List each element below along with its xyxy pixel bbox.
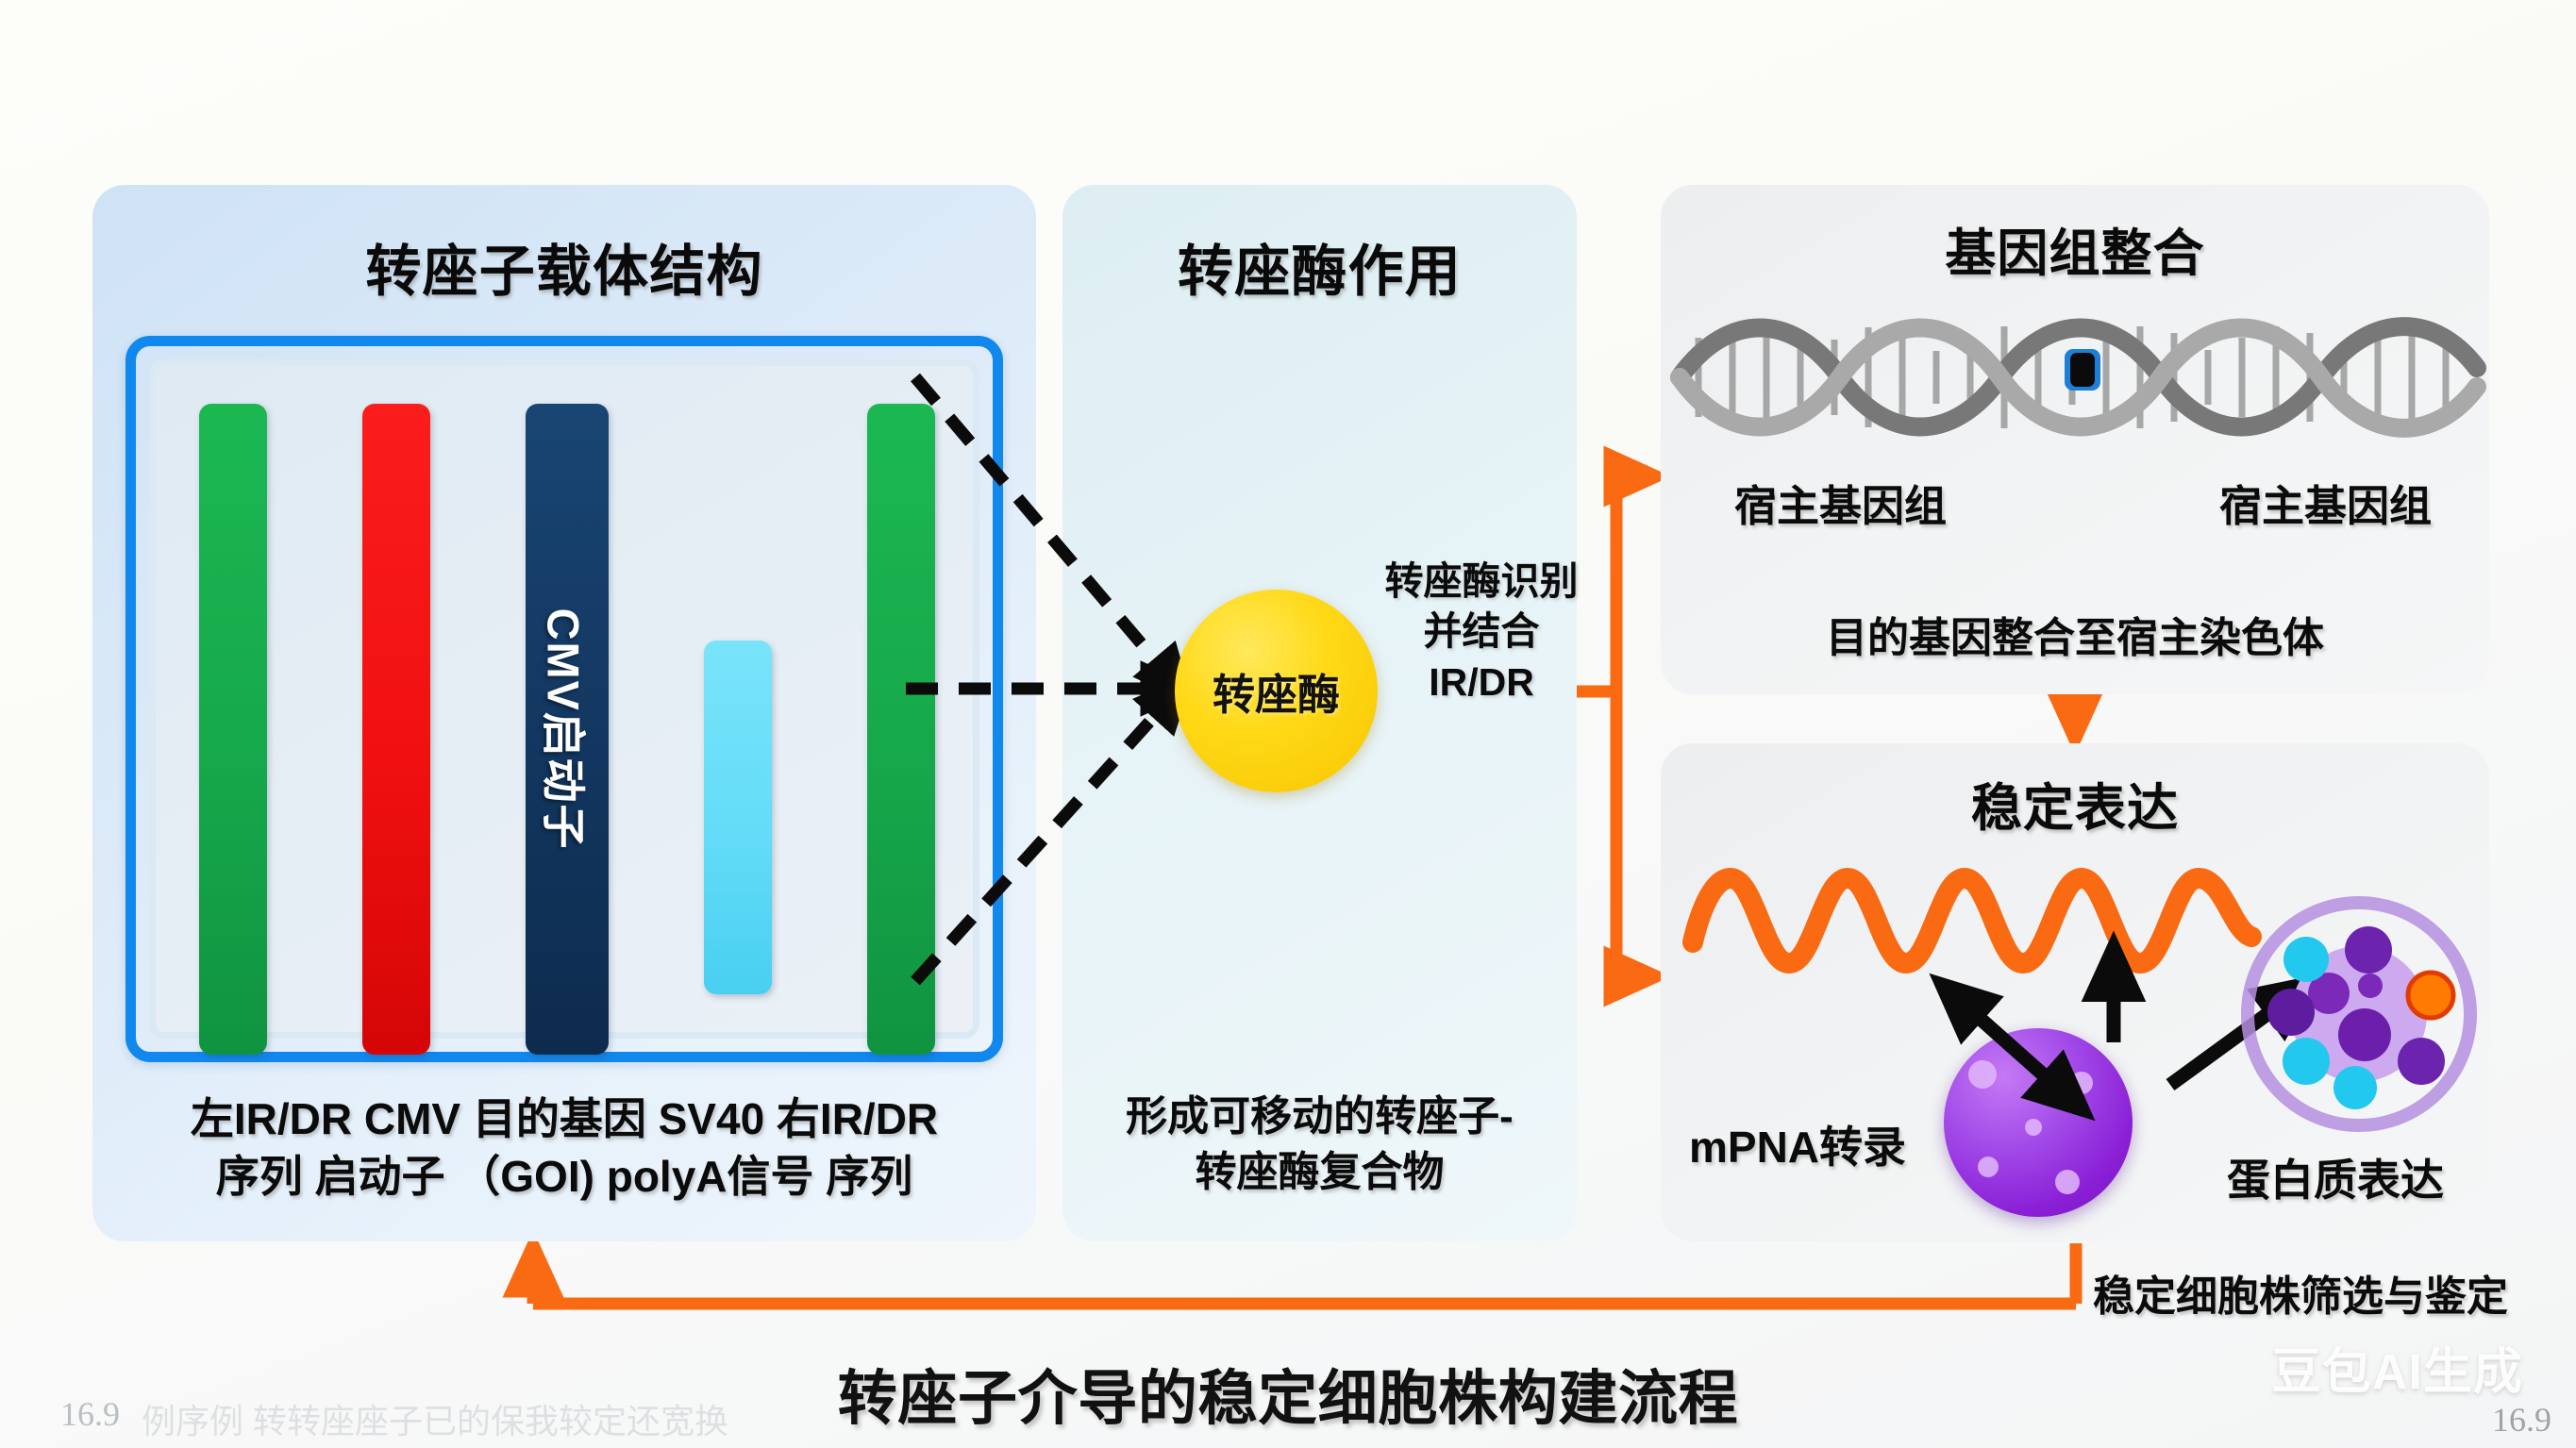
watermark-faint-text: 例序例 转转座座子已的保我较定还宽换 <box>142 1394 728 1443</box>
vector-element-track: CMV启动子 <box>199 404 935 994</box>
orange-flow-bottom-loop <box>533 1243 2076 1304</box>
watermark-brand: 豆包AI生成 <box>2272 1332 2523 1403</box>
enzyme-caption-line-2: 转座酶复合物 <box>1062 1145 1577 1201</box>
transposase-circle-label: 转座酶 <box>1213 660 1340 722</box>
protein-complex-icon <box>2236 891 2482 1137</box>
mrna-transcription-label: mPNA转录 <box>1689 1113 1906 1175</box>
protein-expression-label: 蛋白质表达 <box>2227 1146 2444 1208</box>
panel-transposon-vector-structure: 转座子载体结构 CMV启动子 左IR/DR CMV 目的基因 SV40 右IR/… <box>92 185 1036 1241</box>
dashed-arrows-vector-to-enzyme <box>906 358 1217 1038</box>
panel-title-vector: 转座子载体结构 <box>92 226 1036 307</box>
enzyme-caption: 形成可移动的转座子- 转座酶复合物 <box>1062 1090 1577 1200</box>
integration-site-marker <box>2065 349 2100 391</box>
vector-caption-line-2: 序列 启动子 （GOI) polyA信号 序列 <box>92 1148 1036 1206</box>
panel-title-enzyme: 转座酶作用 <box>1062 226 1577 307</box>
screening-caption: 稳定细胞株筛选与鉴定 <box>2093 1262 2508 1323</box>
vector-construct-inner-frame: CMV启动子 <box>149 359 979 1039</box>
enzyme-caption-line-1: 形成可移动的转座子- <box>1062 1090 1577 1145</box>
vector-element-left-ir-dr <box>199 404 267 1055</box>
transposase-recognition-note: 转座酶识别并结合IR/DR <box>1373 557 1590 707</box>
transposase-circle: 转座酶 <box>1175 590 1378 792</box>
vector-element-sv40-polya <box>704 641 772 994</box>
vector-element-cmv-promoter: CMV启动子 <box>526 404 609 1055</box>
vector-construct-outer-frame: CMV启动子 <box>125 336 1003 1062</box>
host-genome-label-left: 宿主基因组 <box>1734 472 1947 533</box>
dna-double-helix-icon <box>1670 311 2482 443</box>
watermark-number-right: 16.9 <box>2492 1400 2551 1440</box>
diagram-canvas: 转座子载体结构 CMV启动子 左IR/DR CMV 目的基因 SV40 右IR/… <box>0 0 2576 1448</box>
panel-title-expression: 稳定表达 <box>1661 766 2489 841</box>
watermark-number-left: 16.9 <box>60 1394 120 1434</box>
vector-caption: 左IR/DR CMV 目的基因 SV40 右IR/DR 序列 启动子 （GOI)… <box>92 1090 1036 1205</box>
genome-integration-caption: 目的基因整合至宿主染色体 <box>1661 604 2489 664</box>
vector-caption-line-1: 左IR/DR CMV 目的基因 SV40 右IR/DR <box>92 1090 1036 1148</box>
panel-title-genome: 基因组整合 <box>1661 211 2489 286</box>
vector-element-cmv-promoter-label: CMV启动子 <box>535 608 600 851</box>
vector-element-red-block <box>362 404 430 1055</box>
host-genome-label-right: 宿主基因组 <box>2219 472 2432 533</box>
